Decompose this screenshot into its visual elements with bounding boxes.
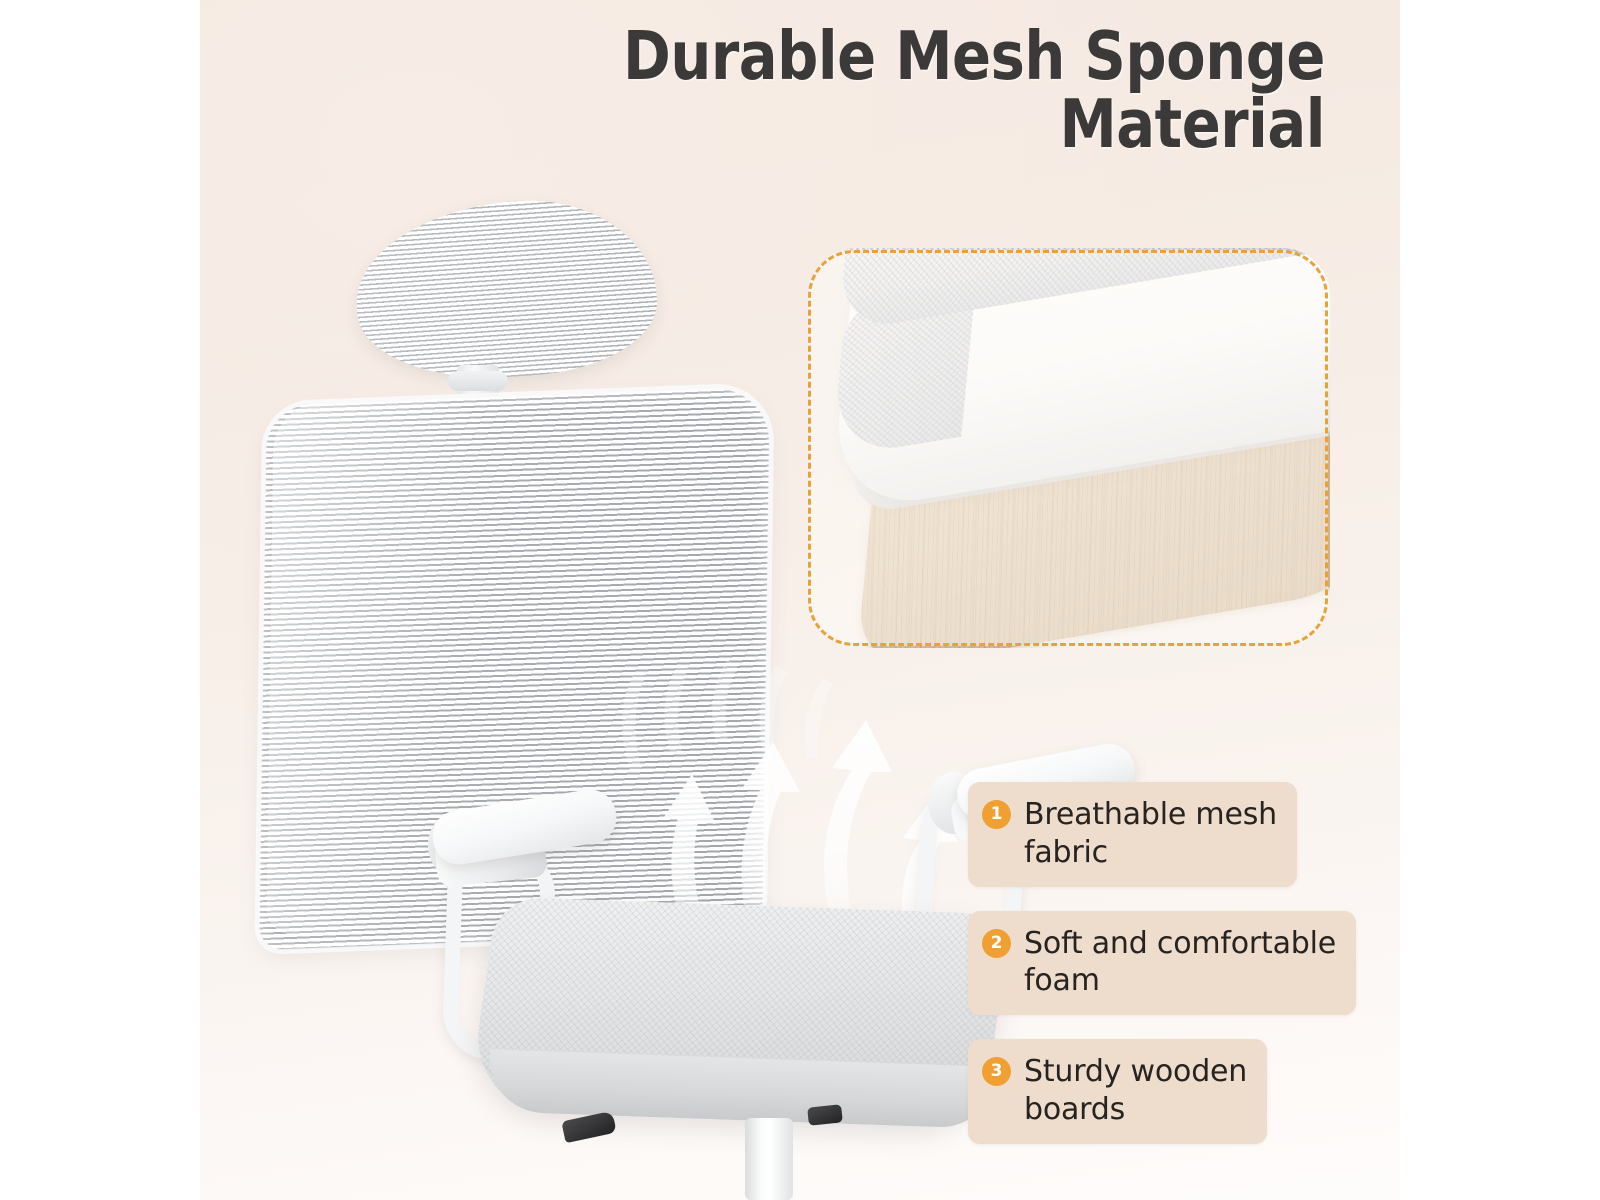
office-chair-illustration [200, 0, 1020, 1200]
airflow-streak-group [622, 660, 833, 770]
feature-card-2: 2 Soft and comfortable foam [968, 911, 1356, 1016]
feature-badge-3: 3 [982, 1057, 1011, 1086]
feature-label-3: Sturdy wooden boards [1024, 1053, 1247, 1129]
feature-card-1: 1 Breathable mesh fabric [968, 782, 1297, 887]
height-adjust-lever [807, 1104, 843, 1125]
feature-label-1: Breathable mesh fabric [1024, 796, 1277, 872]
feature-label-2: Soft and comfortable foam [1024, 925, 1336, 1001]
feature-badge-1: 1 [982, 800, 1011, 829]
content-canvas: Durable Mesh Sponge Material [200, 0, 1400, 1200]
marketing-image-page: Durable Mesh Sponge Material [0, 0, 1600, 1200]
feature-badge-2: 2 [982, 929, 1011, 958]
feature-card-3: 3 Sturdy wooden boards [968, 1039, 1267, 1144]
gas-lift-column [745, 1118, 793, 1200]
feature-list: 1 Breathable mesh fabric 2 Soft and comf… [968, 782, 1388, 1168]
